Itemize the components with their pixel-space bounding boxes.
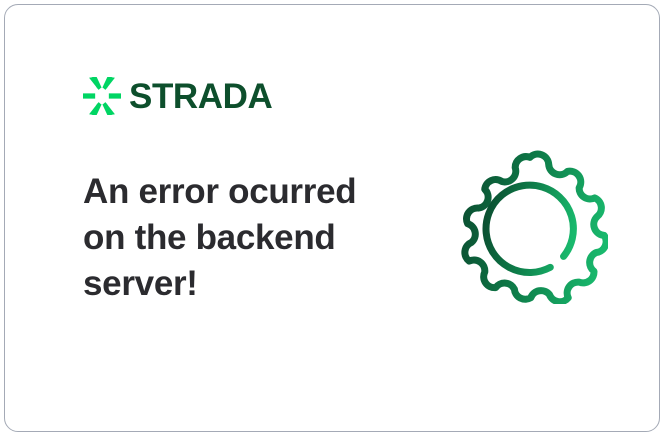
error-headline: An error ocurred on the backend server! xyxy=(83,169,383,308)
error-card: STRADA An error ocurred on the backend s… xyxy=(4,4,660,432)
strada-asterisk-icon xyxy=(83,77,121,115)
brand-wordmark: STRADA xyxy=(129,79,272,114)
brand-logo: STRADA xyxy=(83,77,272,115)
gear-cog-spinner-icon xyxy=(452,148,608,304)
